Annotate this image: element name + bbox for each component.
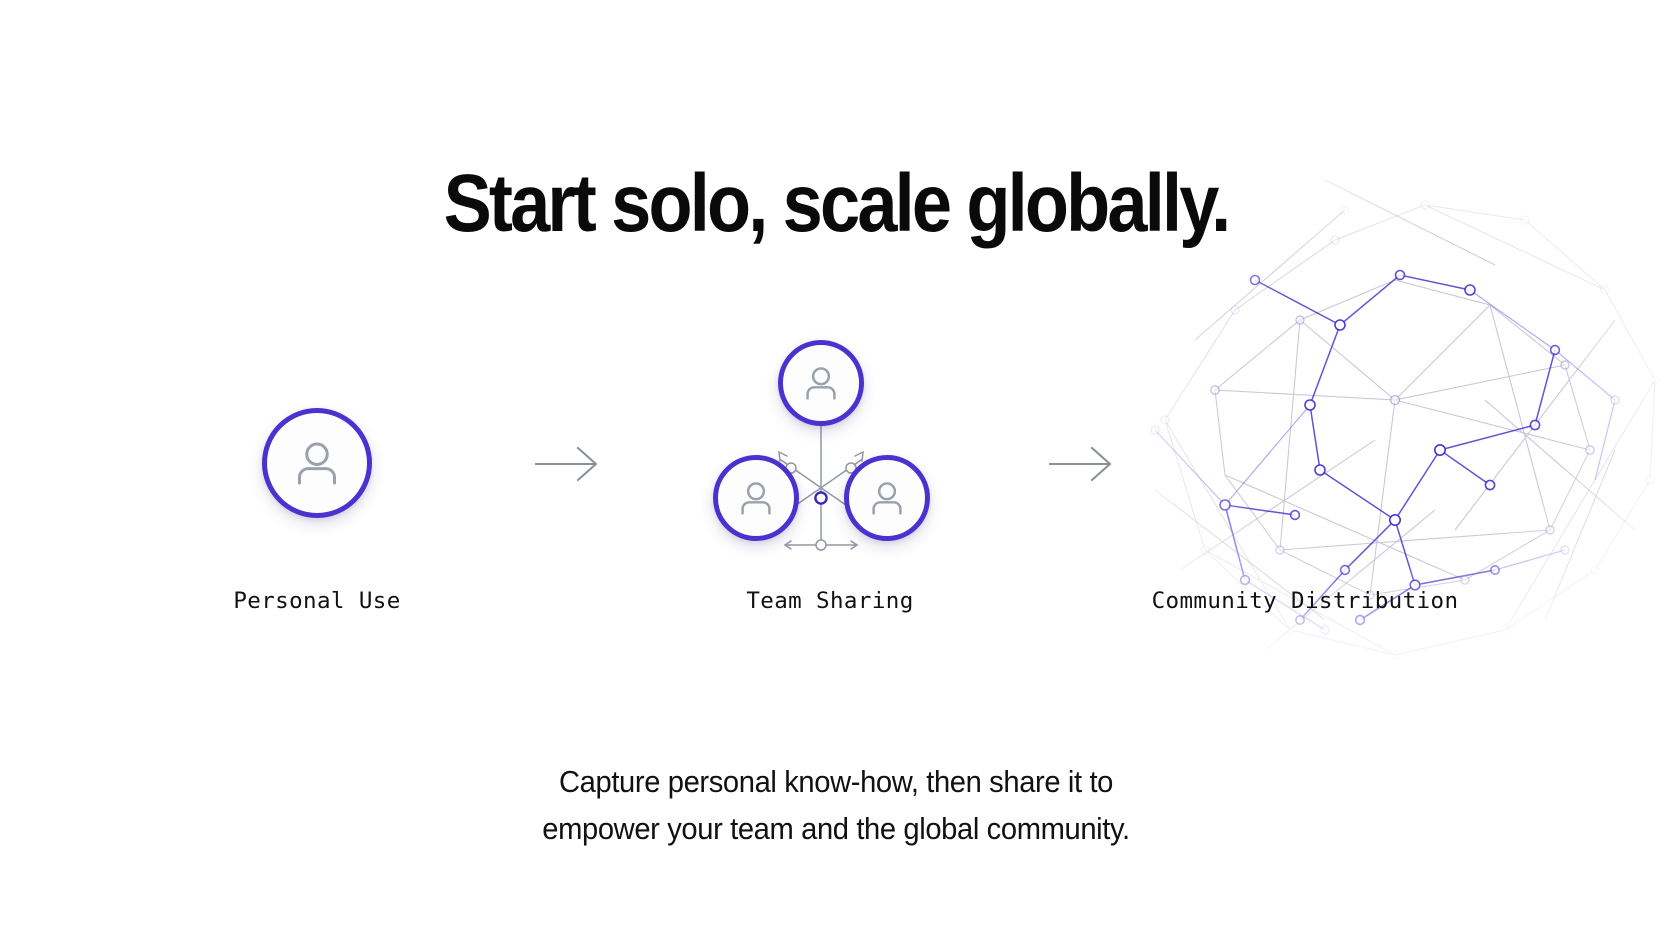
caption-line-1: Capture personal know-how, then share it…: [50, 758, 1622, 805]
community-distribution-art: [1140, 340, 1470, 590]
team-center-node: [815, 492, 826, 503]
person-avatar-icon-left[interactable]: [713, 455, 799, 541]
slide-canvas: Start solo, scale globally.: [0, 0, 1672, 941]
stage-community-distribution[interactable]: Community Distribution: [1140, 340, 1470, 660]
stage-label-community-distribution: Community Distribution: [1095, 588, 1515, 614]
caption-text: Capture personal know-how, then share it…: [50, 758, 1622, 852]
arrow-right-icon-1: [528, 440, 618, 488]
caption-line-2: empower your team and the global communi…: [50, 805, 1622, 852]
team-sharing-art: [665, 340, 995, 590]
stage-label-team-sharing: Team Sharing: [665, 588, 995, 614]
stage-personal-use[interactable]: Personal Use: [152, 340, 482, 660]
stage-team-sharing[interactable]: Team Sharing: [665, 340, 995, 660]
person-avatar-icon[interactable]: [262, 408, 372, 518]
person-avatar-icon-top[interactable]: [778, 340, 864, 426]
personal-use-art: [152, 340, 482, 590]
person-avatar-icon-right[interactable]: [844, 455, 930, 541]
stage-label-personal-use: Personal Use: [152, 588, 482, 614]
arrow-right-icon-2: [1042, 440, 1132, 488]
